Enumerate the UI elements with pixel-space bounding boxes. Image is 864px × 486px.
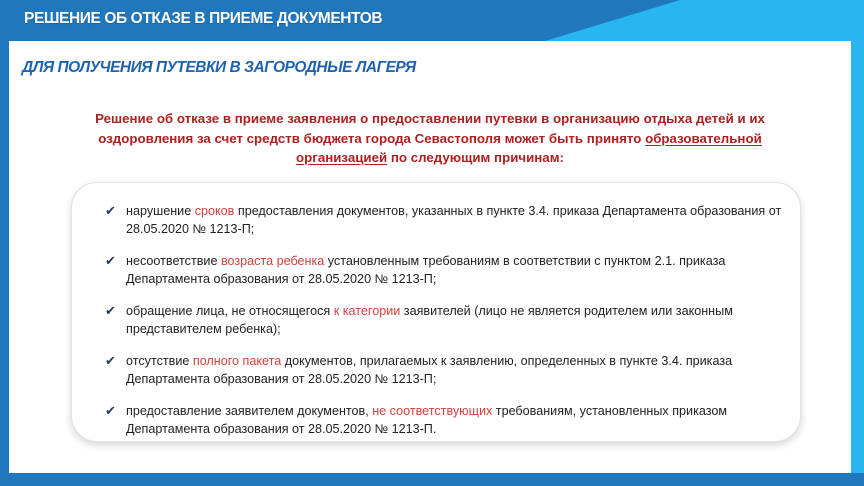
content-page: ДЛЯ ПОЛУЧЕНИЯ ПУТЕВКИ В ЗАГОРОДНЫЕ ЛАГЕР… bbox=[9, 43, 851, 473]
check-icon: ✔ bbox=[105, 302, 116, 320]
list-item-text-before: несоответствие bbox=[126, 254, 221, 268]
list-item-text-before: предоставление заявителем документов, bbox=[126, 404, 372, 418]
check-icon: ✔ bbox=[105, 252, 116, 270]
reasons-card: ✔нарушение сроков предоставления докумен… bbox=[71, 182, 801, 442]
reasons-list: ✔нарушение сроков предоставления докумен… bbox=[105, 202, 785, 438]
list-item-text-before: нарушение bbox=[126, 204, 195, 218]
slide-root: РЕШЕНИЕ ОБ ОТКАЗЕ В ПРИЕМЕ ДОКУМЕНТОВ ДЛ… bbox=[0, 0, 864, 486]
intro-paragraph: Решение об отказе в приеме заявления о п… bbox=[65, 109, 795, 168]
list-item-text-before: обращение лица, не относящегося bbox=[126, 304, 334, 318]
list-item: ✔отсутствие полного пакета документов, п… bbox=[105, 352, 785, 388]
intro-text-part2: по следующим причинам: bbox=[387, 150, 564, 165]
list-item: ✔предоставление заявителем документов, н… bbox=[105, 402, 785, 438]
list-item-highlight: полного пакета bbox=[193, 354, 281, 368]
frame-bar-bottom bbox=[0, 473, 864, 486]
frame-bar-right bbox=[851, 41, 864, 473]
list-item-highlight: к категории bbox=[334, 304, 401, 318]
page-subtitle: ДЛЯ ПОЛУЧЕНИЯ ПУТЕВКИ В ЗАГОРОДНЫЕ ЛАГЕР… bbox=[22, 59, 416, 77]
check-icon: ✔ bbox=[105, 352, 116, 370]
check-icon: ✔ bbox=[105, 202, 116, 220]
list-item-highlight: возраста ребенка bbox=[221, 254, 324, 268]
list-item: ✔обращение лица, не относящегося к катег… bbox=[105, 302, 785, 338]
list-item: ✔нарушение сроков предоставления докумен… bbox=[105, 202, 785, 238]
list-item-highlight: сроков bbox=[195, 204, 235, 218]
frame-bar-left bbox=[0, 41, 9, 478]
list-item-highlight: не соответствующих bbox=[372, 404, 492, 418]
page-title: РЕШЕНИЕ ОБ ОТКАЗЕ В ПРИЕМЕ ДОКУМЕНТОВ bbox=[24, 10, 382, 28]
list-item-text-before: отсутствие bbox=[126, 354, 193, 368]
list-item: ✔несоответствие возраста ребенка установ… bbox=[105, 252, 785, 288]
check-icon: ✔ bbox=[105, 402, 116, 420]
